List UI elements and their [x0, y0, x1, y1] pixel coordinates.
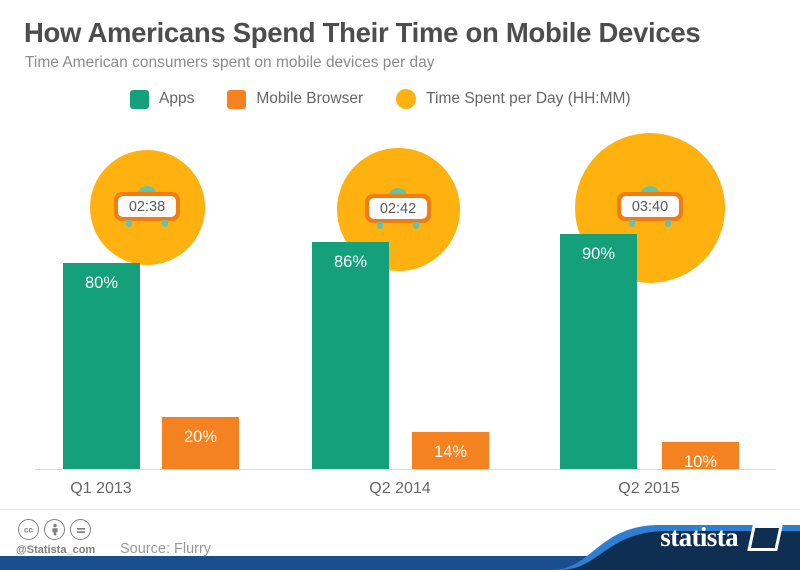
- bar-label-apps-q1-2013: 80%: [63, 274, 140, 293]
- bar-browser-q2-2014[interactable]: 14%: [412, 432, 489, 469]
- footer-divider: [0, 509, 800, 510]
- clock-time-q1-2013: 02:38: [118, 196, 176, 217]
- cc-attribution-person-icon: [44, 519, 65, 540]
- statista-logo-icon: [747, 525, 783, 551]
- bar-apps-q1-2013[interactable]: 80%: [63, 263, 140, 469]
- infographic-root: How Americans Spend Their Time on Mobile…: [0, 0, 800, 570]
- clock-time-q2-2014: 02:42: [369, 198, 427, 219]
- cc-no-derivatives-equals-icon: [70, 519, 91, 540]
- bar-label-apps-q2-2014: 86%: [312, 253, 389, 272]
- x-axis-line: [35, 469, 776, 470]
- clock-foot-left: [377, 222, 383, 229]
- clock-foot-left: [126, 220, 132, 227]
- bar-label-browser-q2-2014: 14%: [412, 443, 489, 462]
- chart-plot-area: 80% 20% 86% 14% 90% 10% 02:38: [0, 0, 800, 500]
- bar-apps-q2-2014[interactable]: 86%: [312, 242, 389, 469]
- x-axis-tick-q1-2013: Q1 2013: [51, 480, 151, 498]
- bar-apps-q2-2015[interactable]: 90%: [560, 234, 637, 469]
- statista-handle: @Statista_com: [16, 544, 95, 556]
- alarm-clock-icon-q2-2015: 03:40: [617, 186, 683, 228]
- clock-foot-left: [629, 220, 635, 227]
- x-axis-tick-q2-2015: Q2 2015: [599, 480, 699, 498]
- source-credit: Source: Flurry: [120, 541, 211, 557]
- bar-browser-q1-2013[interactable]: 20%: [162, 417, 239, 469]
- svg-text:cc: cc: [24, 526, 33, 535]
- clock-foot-right: [665, 220, 671, 227]
- bar-label-browser-q1-2013: 20%: [162, 428, 239, 447]
- clock-foot-right: [413, 222, 419, 229]
- creative-commons-icons: cc: [18, 519, 91, 540]
- x-axis-tick-q2-2014: Q2 2014: [350, 480, 450, 498]
- bar-label-apps-q2-2015: 90%: [560, 245, 637, 264]
- cc-icon: cc: [18, 519, 39, 540]
- bar-browser-q2-2015[interactable]: 10%: [662, 442, 739, 469]
- alarm-clock-icon-q1-2013: 02:38: [114, 186, 180, 228]
- clock-foot-right: [162, 220, 168, 227]
- alarm-clock-icon-q2-2014: 02:42: [365, 188, 431, 230]
- clock-time-q2-2015: 03:40: [621, 196, 679, 217]
- statista-wordmark: statista: [660, 522, 738, 553]
